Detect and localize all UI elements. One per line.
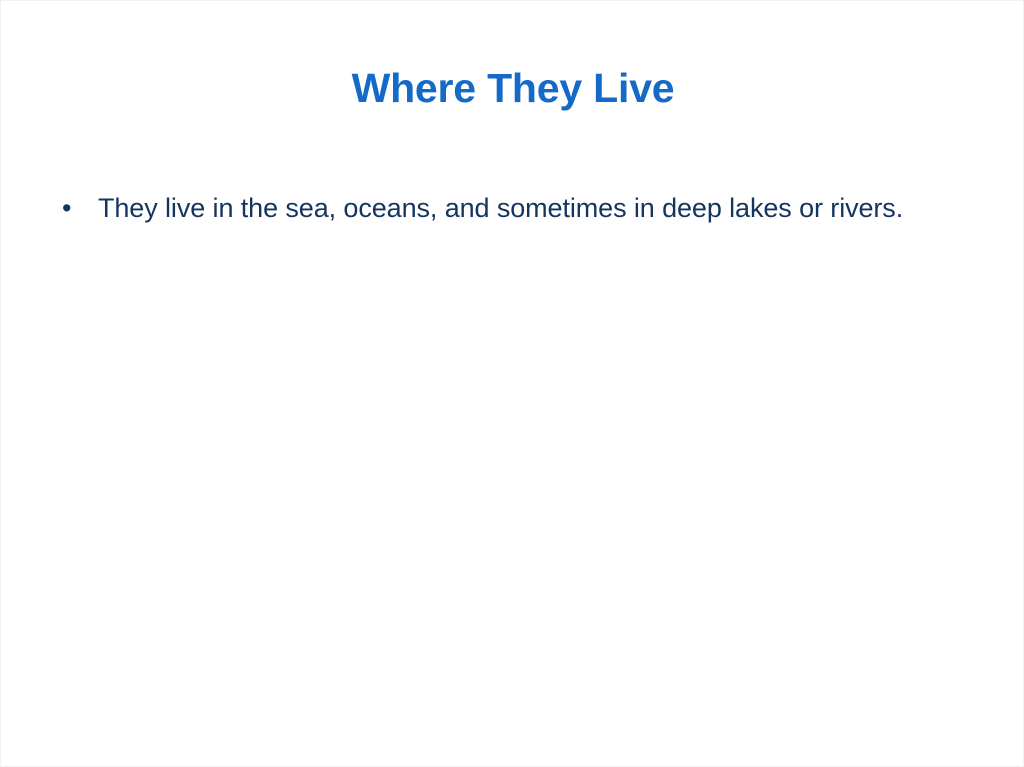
slide-canvas: Where They Live • They live in the sea, … [0, 0, 1024, 767]
list-item: • They live in the sea, oceans, and some… [59, 188, 959, 228]
bullet-icon: • [62, 188, 80, 228]
bullet-list: • They live in the sea, oceans, and some… [59, 188, 959, 228]
page-title: Where They Live [1, 64, 1024, 112]
list-item-label: They live in the sea, oceans, and someti… [98, 188, 959, 228]
